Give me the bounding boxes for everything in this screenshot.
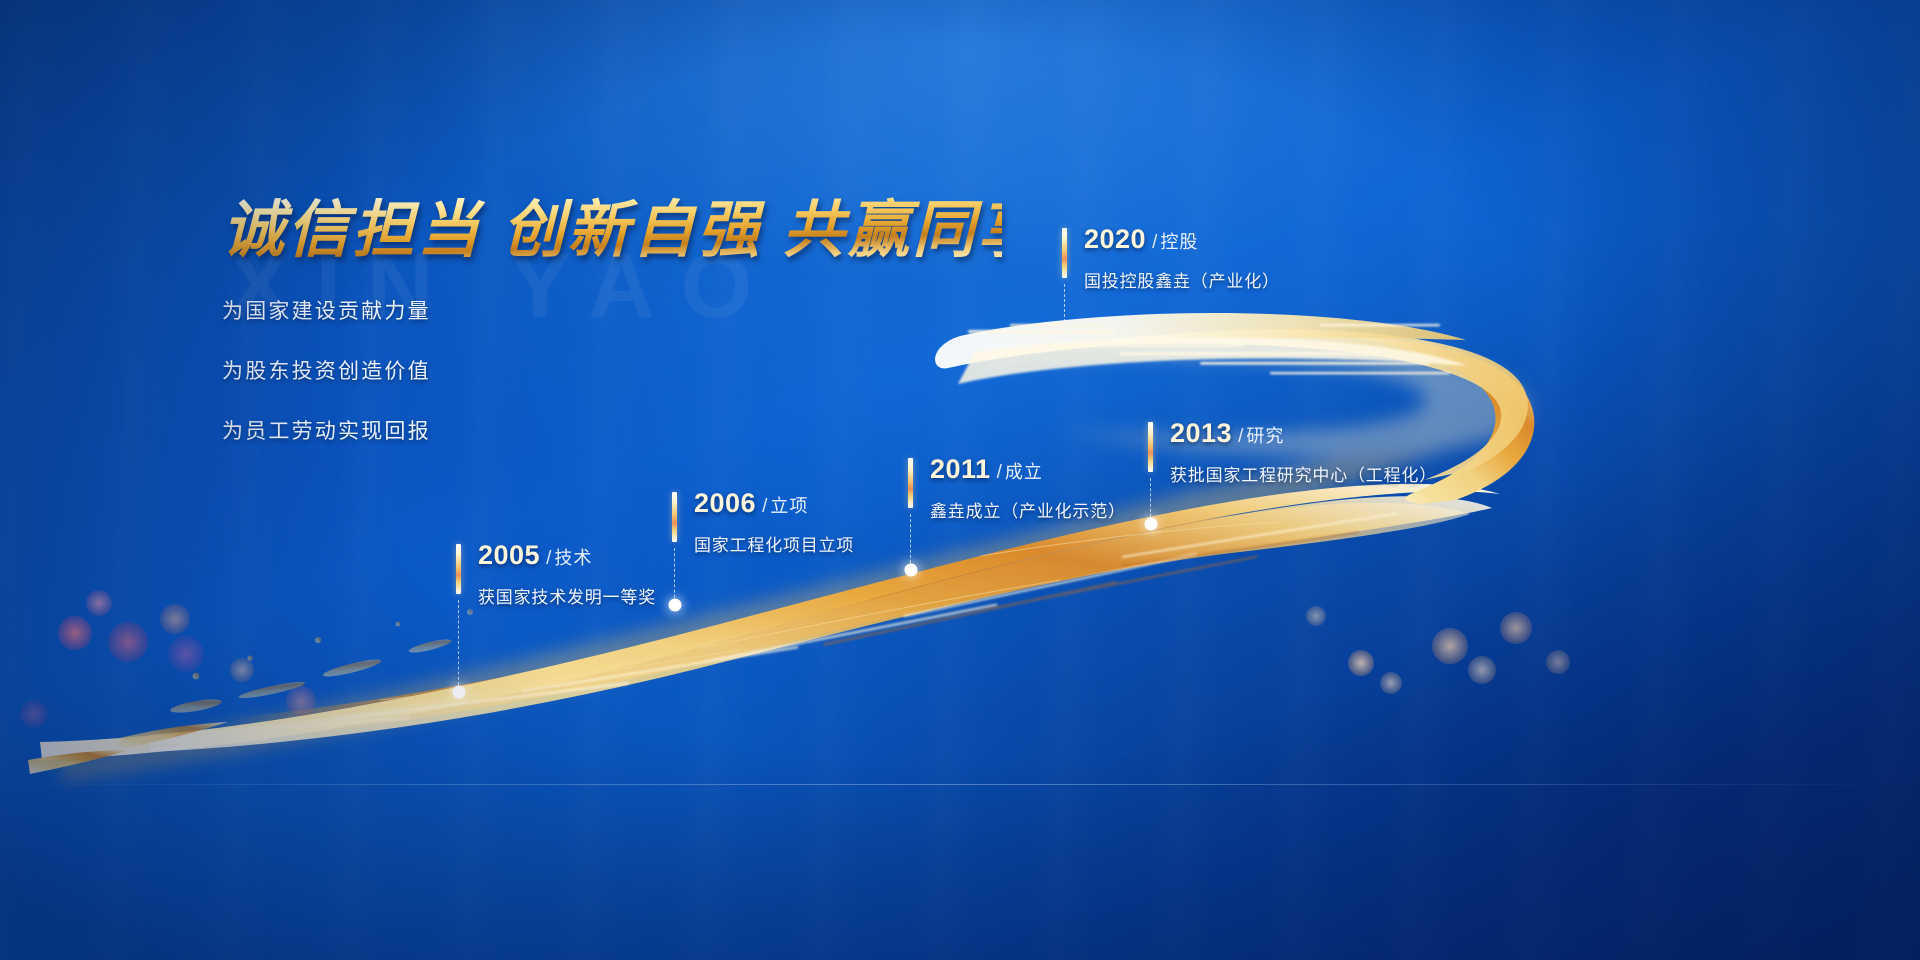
bokeh-circle [286,686,316,716]
milestone-heading: 2011/成立 [930,456,1126,483]
bokeh-circle [108,622,148,662]
milestone-year: 2011 [930,454,991,484]
milestone-2020[interactable]: 2020/控股 国投控股鑫垚（产业化） [1062,226,1280,292]
milestone-year: 2005 [478,540,540,570]
milestone-accent-bar [1062,228,1067,278]
bokeh-circle [168,636,204,672]
milestone-description: 鑫垚成立（产业化示范） [930,497,1126,522]
bokeh-circle [1432,628,1468,664]
milestone-dot-2005 [453,686,466,699]
milestone-year: 2013 [1170,418,1232,448]
milestone-description: 获批国家工程研究中心（工程化） [1170,461,1437,486]
milestone-year: 2020 [1084,224,1146,254]
milestone-description: 获国家技术发明一等奖 [478,583,656,608]
bottom-divider [0,784,1920,785]
banner-canvas: XIN YAO 诚信担当 创新自强 共赢同享 为国家建设贡献力量 为股东投资创造… [0,0,1920,960]
milestone-separator: / [546,548,551,569]
milestone-category: 技术 [554,548,592,568]
milestone-accent-bar [672,492,677,542]
milestone-dot-2013 [1145,518,1158,531]
milestone-description: 国投控股鑫垚（产业化） [1084,267,1280,292]
milestone-heading: 2020/控股 [1084,226,1280,253]
bokeh-circle [58,616,92,650]
milestone-accent-bar [908,458,913,508]
milestone-dot-2011 [905,564,918,577]
milestone-separator: / [997,462,1002,483]
milestone-heading: 2006/立项 [694,490,854,517]
milestone-accent-bar [456,544,461,594]
milestone-connector-2011 [910,514,911,568]
bokeh-circle [1306,606,1326,626]
bokeh-circle [1348,650,1374,676]
milestone-heading: 2005/技术 [478,542,656,569]
bokeh-circle [1468,656,1496,684]
bokeh-circle [1500,612,1532,644]
milestone-separator: / [762,496,767,517]
subline-2: 为股东投资创造价值 [222,355,1002,385]
bokeh-circle [1546,650,1570,674]
milestone-separator: / [1238,426,1243,447]
milestone-dot-2006 [669,599,682,612]
bokeh-circle [230,658,254,682]
bokeh-circle [160,604,190,634]
milestone-category: 控股 [1160,232,1198,252]
headline-block: XIN YAO 诚信担当 创新自强 共赢同享 为国家建设贡献力量 为股东投资创造… [222,196,1002,445]
milestone-category: 立项 [770,496,808,516]
milestone-2011[interactable]: 2011/成立 鑫垚成立（产业化示范） [908,456,1126,522]
bokeh-circle [20,700,48,728]
milestone-2005[interactable]: 2005/技术 获国家技术发明一等奖 [456,542,656,608]
milestone-2013[interactable]: 2013/研究 获批国家工程研究中心（工程化） [1148,420,1437,486]
milestone-2006[interactable]: 2006/立项 国家工程化项目立项 [672,490,854,556]
milestone-description: 国家工程化项目立项 [694,531,854,556]
milestone-connector-2013 [1150,478,1151,522]
milestone-accent-bar [1148,422,1153,472]
milestone-separator: / [1152,232,1157,253]
page-title: 诚信担当 创新自强 共赢同享 [222,196,1002,265]
milestone-heading: 2013/研究 [1170,420,1437,447]
subline-3: 为员工劳动实现回报 [222,415,1002,445]
milestone-year: 2006 [694,488,756,518]
bokeh-circle [1380,672,1402,694]
milestone-connector-2005 [458,600,459,690]
bokeh-circle [86,590,112,616]
milestone-connector-2006 [674,548,675,603]
milestone-category: 研究 [1246,426,1284,446]
milestone-category: 成立 [1005,462,1043,482]
milestone-connector-2020 [1064,284,1065,342]
subline-1: 为国家建设贡献力量 [222,295,1002,325]
